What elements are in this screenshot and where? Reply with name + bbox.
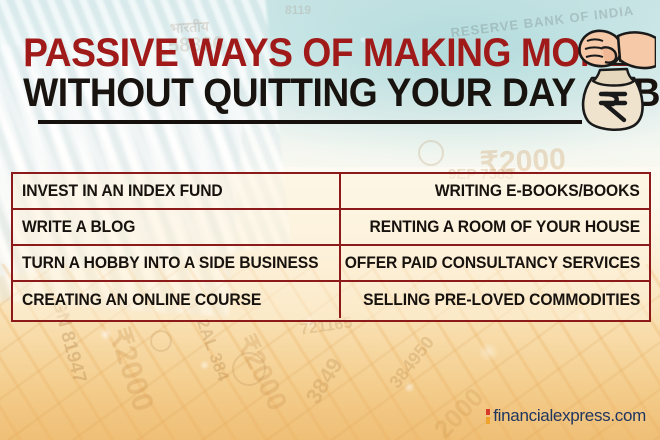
watermark-seal-circle-2 — [232, 352, 266, 386]
title-underline — [38, 120, 582, 124]
table-cell-left: INVEST IN AN INDEX FUND — [13, 174, 341, 208]
table-row: INVEST IN AN INDEX FUND WRITING E-BOOKS/… — [13, 174, 649, 210]
watermark-serial-b: 8119 — [285, 3, 311, 17]
table-cell-text: OFFER PAID CONSULTANCY SERVICES — [344, 253, 640, 273]
table-cell-left: WRITE A BLOG — [13, 210, 341, 244]
table-cell-text: WRITE A BLOG — [22, 217, 135, 237]
logo-colon-icon — [486, 409, 490, 424]
table-cell-text: CREATING AN ONLINE COURSE — [22, 290, 261, 310]
infographic-poster: RESERVE BANK OF INDIA भारतीय 8119 58366 … — [0, 0, 660, 440]
table-cell-text: INVEST IN AN INDEX FUND — [22, 181, 223, 201]
table-cell-right: RENTING A ROOM OF YOUR HOUSE — [341, 210, 649, 244]
poster-title: PASSIVE WAYS OF MAKING MONEY WITHOUT QUI… — [0, 34, 660, 113]
financialexpress-logo[interactable]: financialexpress.com — [486, 406, 646, 426]
watermark-seal-circle-1 — [418, 140, 444, 166]
ideas-table: INVEST IN AN INDEX FUND WRITING E-BOOKS/… — [11, 172, 651, 322]
table-cell-right: WRITING E-BOOKS/BOOKS — [341, 174, 649, 208]
logo-text: financialexpress.com — [493, 406, 646, 426]
table-cell-left: TURN A HOBBY INTO A SIDE BUSINESS — [13, 246, 341, 280]
table-cell-right: SELLING PRE-LOVED COMMODITIES — [341, 282, 649, 318]
table-cell-right: OFFER PAID CONSULTANCY SERVICES — [341, 246, 649, 280]
table-cell-text: TURN A HOBBY INTO A SIDE BUSINESS — [22, 253, 318, 273]
hand-holding-money-bag-icon — [572, 18, 656, 136]
table-cell-text: RENTING A ROOM OF YOUR HOUSE — [369, 217, 640, 237]
title-line-1: PASSIVE WAYS OF MAKING MONEY — [23, 34, 637, 72]
table-cell-text: SELLING PRE-LOVED COMMODITIES — [363, 290, 640, 310]
table-cell-left: CREATING AN ONLINE COURSE — [13, 282, 341, 318]
watermark-seal-circle-3 — [150, 330, 172, 352]
table-cell-text: WRITING E-BOOKS/BOOKS — [435, 181, 640, 201]
table-row: CREATING AN ONLINE COURSE SELLING PRE-LO… — [13, 282, 649, 318]
table-row: WRITE A BLOG RENTING A ROOM OF YOUR HOUS… — [13, 210, 649, 246]
table-row: TURN A HOBBY INTO A SIDE BUSINESS OFFER … — [13, 246, 649, 282]
title-line-2: WITHOUT QUITTING YOUR DAY JOB — [23, 74, 637, 112]
